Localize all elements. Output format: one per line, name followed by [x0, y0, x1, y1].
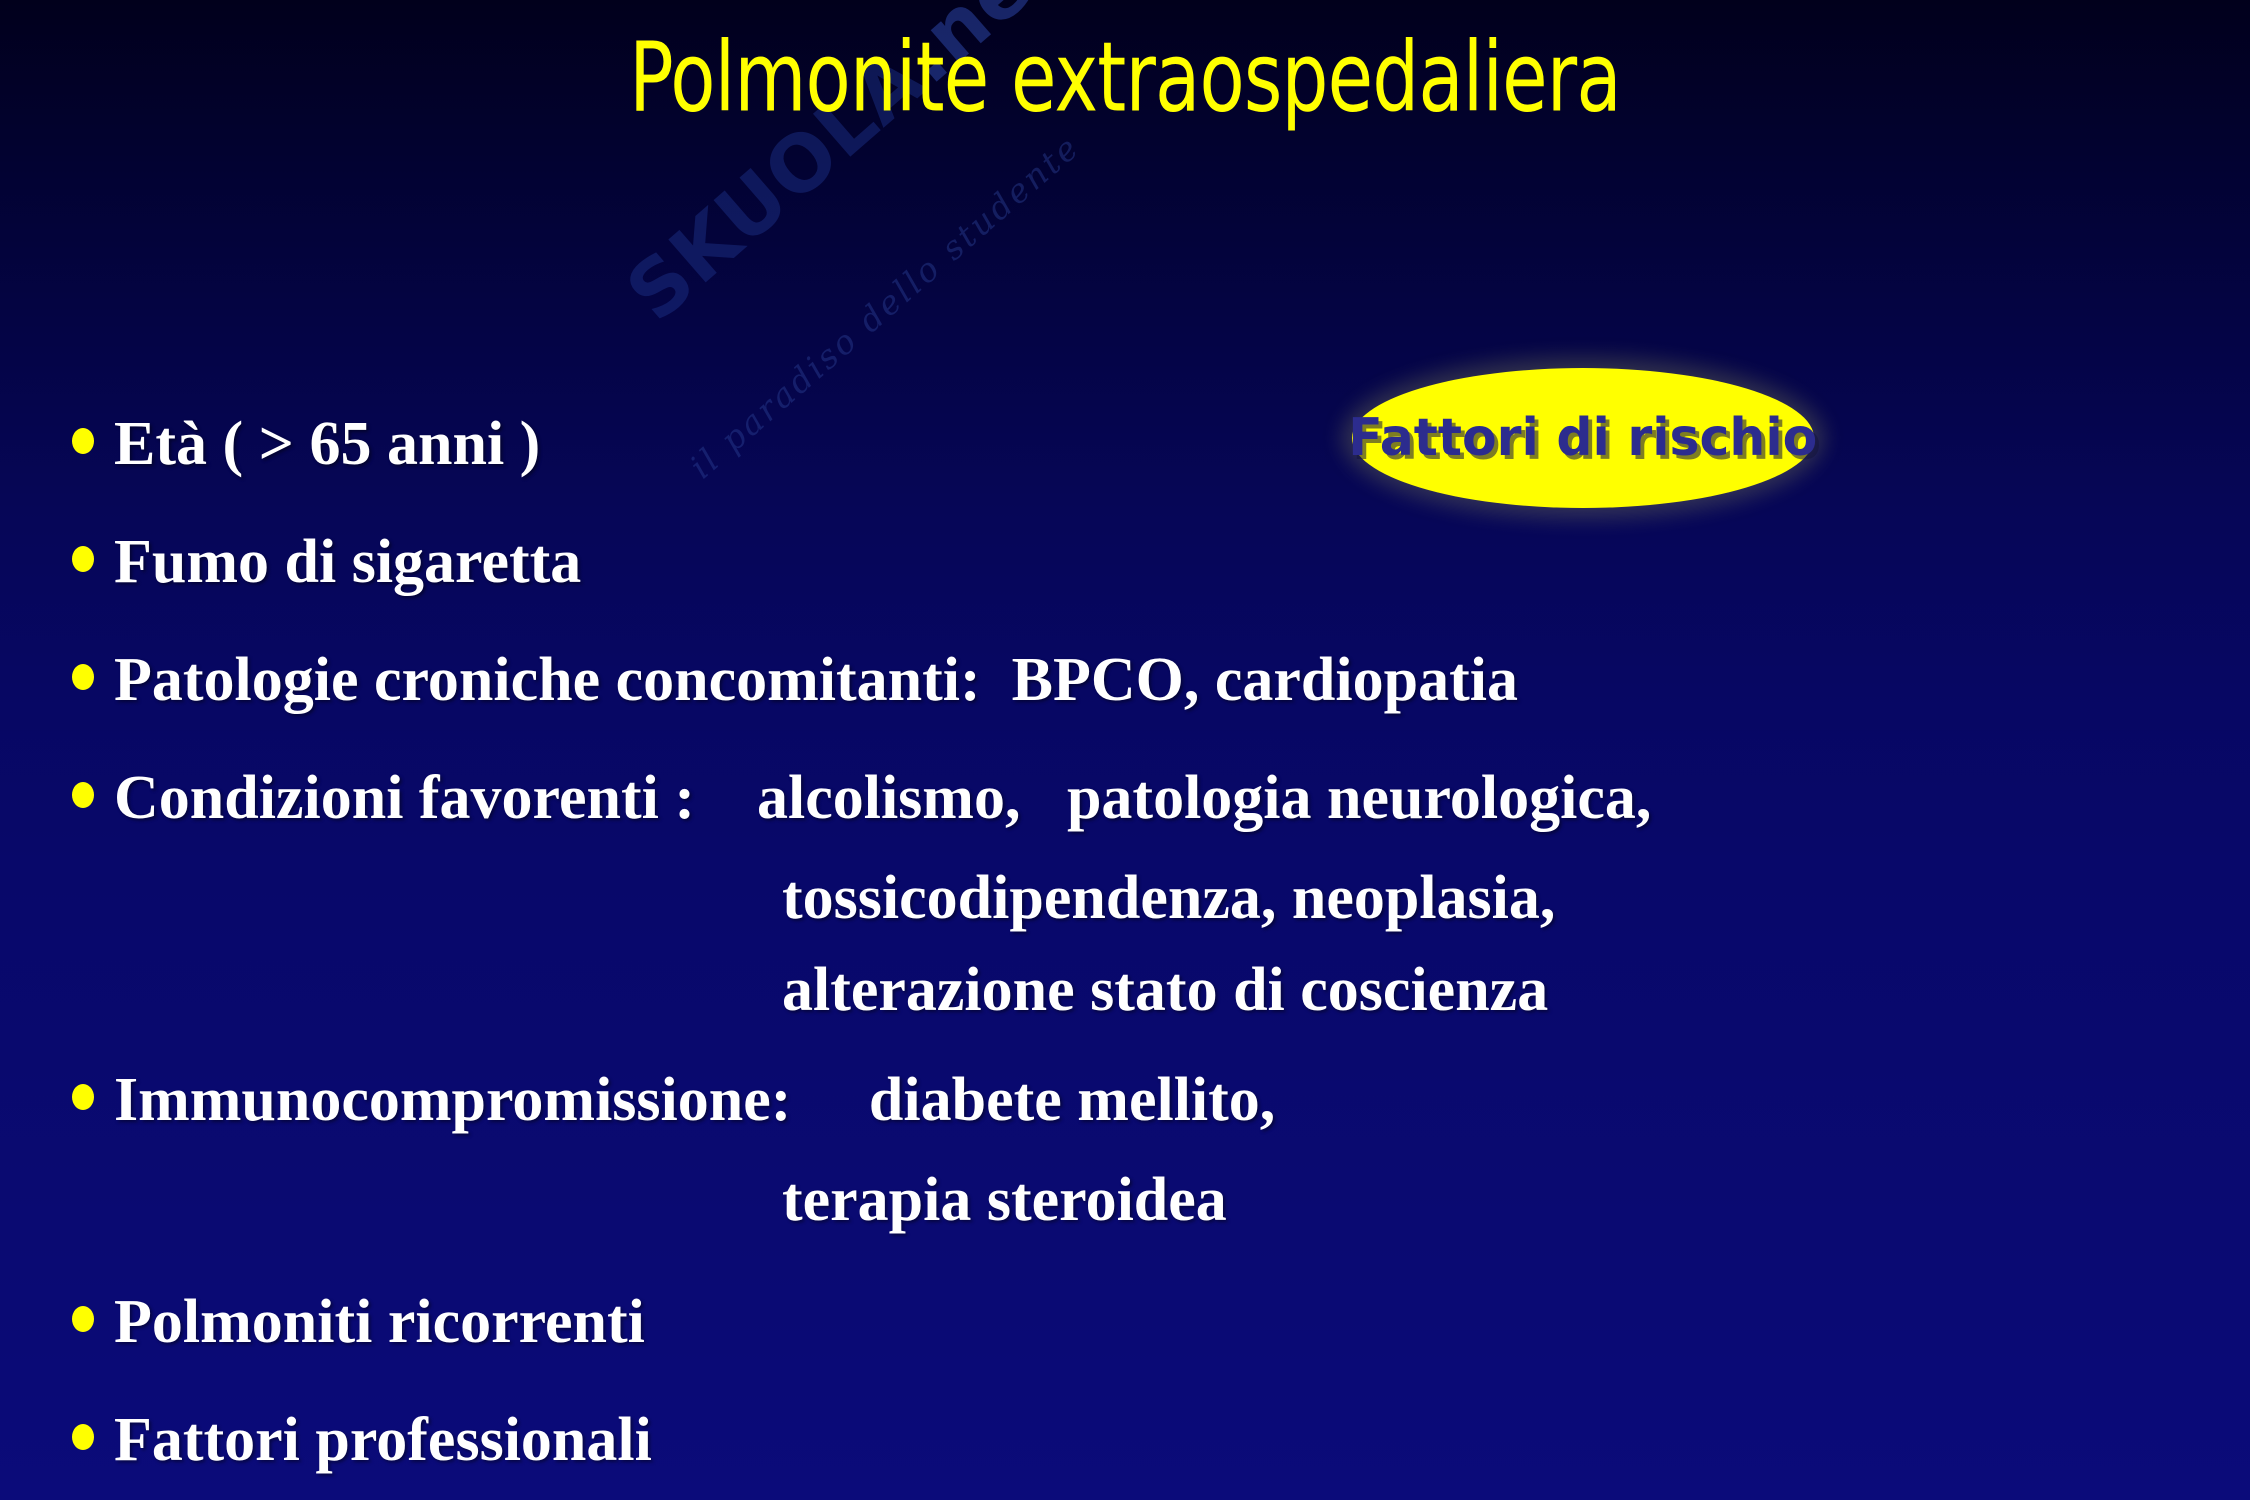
- list-item-continuation: tossicodipendenza, neoplasia,: [72, 852, 2192, 944]
- bullet-dot-icon: [72, 782, 94, 808]
- list-item: Polmoniti ricorrenti: [72, 1276, 2192, 1368]
- page-title: Polmonite extraospedaliera: [158, 22, 2093, 134]
- spacer: [72, 616, 2192, 634]
- list-item: Patologie croniche concomitanti: BPCO, c…: [72, 634, 2192, 726]
- list-item: Età ( > 65 anni ): [72, 398, 2192, 490]
- list-item-continuation: terapia steroidea: [72, 1154, 2192, 1246]
- list-item-label: Età ( > 65 anni ): [114, 398, 540, 490]
- list-item-label: Condizioni favorenti : alcolismo, patolo…: [114, 752, 1651, 844]
- list-item-label: Immunocompromissione: diabete mellito,: [114, 1054, 1275, 1146]
- list-item-label: Polmoniti ricorrenti: [114, 1276, 645, 1368]
- bullet-dot-icon: [72, 1424, 94, 1450]
- list-item-label: Fattori professionali: [114, 1394, 652, 1486]
- bullet-list: Età ( > 65 anni ) Fumo di sigaretta Pato…: [72, 398, 2192, 1494]
- bullet-dot-icon: [72, 428, 94, 454]
- list-item: Fumo di sigaretta: [72, 516, 2192, 608]
- list-item: Condizioni favorenti : alcolismo, patolo…: [72, 752, 2192, 844]
- bullet-dot-icon: [72, 664, 94, 690]
- list-item-label: Fumo di sigaretta: [114, 516, 581, 608]
- spacer: [72, 1376, 2192, 1394]
- spacer: [72, 734, 2192, 752]
- list-item: Fattori professionali: [72, 1394, 2192, 1486]
- spacer: [72, 1036, 2192, 1054]
- bullet-dot-icon: [72, 546, 94, 572]
- slide-canvas: SKUOLA.net il paradiso dello studente Po…: [0, 0, 2250, 1500]
- list-item: Immunocompromissione: diabete mellito,: [72, 1054, 2192, 1146]
- bullet-dot-icon: [72, 1306, 94, 1332]
- list-item-continuation: alterazione stato di coscienza: [72, 944, 2192, 1036]
- spacer: [72, 498, 2192, 516]
- list-item-label: Patologie croniche concomitanti: BPCO, c…: [114, 634, 1518, 726]
- bullet-dot-icon: [72, 1084, 94, 1110]
- spacer: [72, 1246, 2192, 1276]
